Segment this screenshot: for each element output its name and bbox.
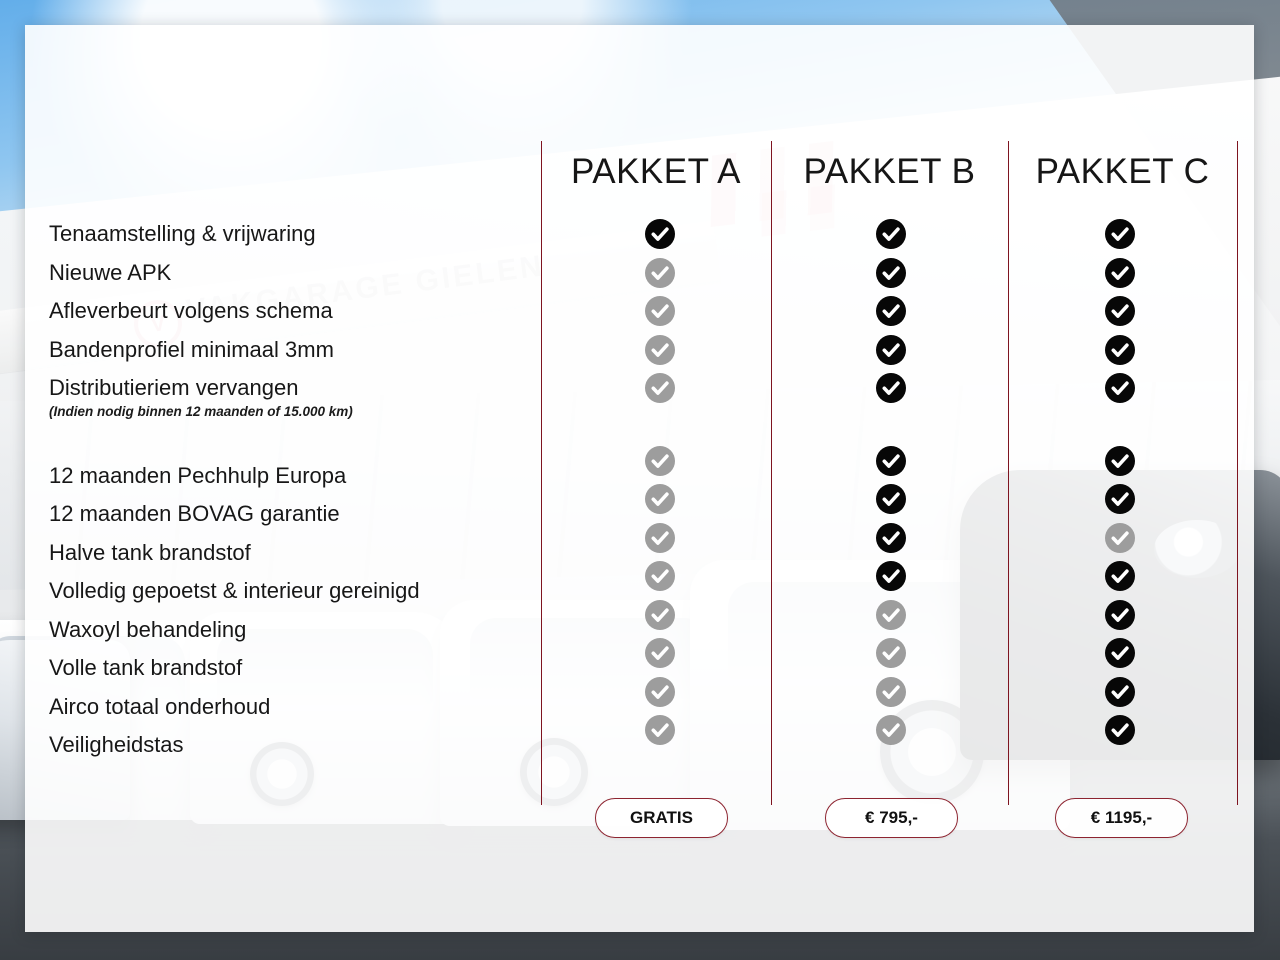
feature-row: 12 maanden Pechhulp Europa xyxy=(49,457,549,496)
check-cell xyxy=(861,711,921,750)
check-column-b xyxy=(861,215,921,750)
check-cell xyxy=(630,673,690,712)
check-icon-excluded xyxy=(1105,523,1135,553)
feature-label: Waxoyl behandeling xyxy=(49,617,246,643)
check-icon-excluded xyxy=(645,484,675,514)
check-cell xyxy=(861,557,921,596)
check-icon-included xyxy=(1105,677,1135,707)
check-icon-excluded xyxy=(645,561,675,591)
feature-row: Veiligheidstas xyxy=(49,726,549,765)
price-pill-a[interactable]: GRATIS xyxy=(595,798,728,838)
check-cell xyxy=(1090,519,1150,558)
check-icon-included xyxy=(876,219,906,249)
feature-row: Distributieriem vervangen xyxy=(49,369,549,408)
feature-note: (Indien nodig binnen 12 maanden of 15.00… xyxy=(49,404,549,419)
price-label: GRATIS xyxy=(630,808,693,828)
check-icon-excluded xyxy=(645,446,675,476)
price-pill-c[interactable]: € 1195,- xyxy=(1055,798,1188,838)
check-group-gap xyxy=(861,408,921,442)
column-divider-3 xyxy=(1008,141,1009,805)
check-icon-included xyxy=(876,561,906,591)
check-icon-excluded xyxy=(876,600,906,630)
check-icon-included xyxy=(1105,484,1135,514)
package-header-c: PAKKET C xyxy=(1008,143,1237,201)
package-title: PAKKET B xyxy=(804,152,976,192)
check-icon-included xyxy=(1105,258,1135,288)
feature-row: Waxoyl behandeling xyxy=(49,611,549,650)
feature-row: 12 maanden BOVAG garantie xyxy=(49,495,549,534)
feature-label: Nieuwe APK xyxy=(49,260,171,286)
check-column-c xyxy=(1090,215,1150,750)
package-header-a: PAKKET A xyxy=(541,143,771,201)
feature-label: Airco totaal onderhoud xyxy=(49,694,270,720)
check-icon-excluded xyxy=(645,600,675,630)
feature-row: Airco totaal onderhoud xyxy=(49,688,549,727)
check-cell xyxy=(861,519,921,558)
feature-row: Nieuwe APK xyxy=(49,254,549,293)
check-icon-excluded xyxy=(645,335,675,365)
check-cell xyxy=(630,442,690,481)
feature-label: Veiligheidstas xyxy=(49,732,184,758)
screenshot-stage: VAKGARAGE GIELEN PAKKET A PAKKET B PAKKE… xyxy=(0,0,1280,960)
feature-label: Afleverbeurt volgens schema xyxy=(49,298,333,324)
check-icon-included xyxy=(1105,335,1135,365)
check-icon-included xyxy=(876,446,906,476)
check-icon-excluded xyxy=(645,638,675,668)
check-cell xyxy=(861,442,921,481)
check-icon-included xyxy=(1105,219,1135,249)
check-icon-excluded xyxy=(645,373,675,403)
feature-label: 12 maanden BOVAG garantie xyxy=(49,501,340,527)
check-cell xyxy=(1090,215,1150,254)
check-cell xyxy=(1090,557,1150,596)
check-cell xyxy=(630,480,690,519)
check-cell xyxy=(861,331,921,370)
check-icon-excluded xyxy=(876,638,906,668)
check-group-gap xyxy=(630,408,690,442)
check-icon-included xyxy=(876,258,906,288)
column-divider-4 xyxy=(1237,141,1238,805)
feature-row: Bandenprofiel minimaal 3mm xyxy=(49,331,549,370)
check-icon-excluded xyxy=(645,258,675,288)
feature-label-list: Tenaamstelling & vrijwaringNieuwe APKAfl… xyxy=(49,215,549,765)
check-icon-included xyxy=(1105,561,1135,591)
check-cell xyxy=(861,254,921,293)
package-header-b: PAKKET B xyxy=(771,143,1008,201)
check-icon-included xyxy=(876,523,906,553)
check-cell xyxy=(861,292,921,331)
feature-label: Distributieriem vervangen xyxy=(49,375,298,401)
feature-row: Volle tank brandstof xyxy=(49,649,549,688)
check-icon-excluded xyxy=(645,523,675,553)
check-icon-included xyxy=(1105,446,1135,476)
check-icon-included xyxy=(1105,715,1135,745)
package-title: PAKKET C xyxy=(1036,152,1210,192)
price-label: € 795,- xyxy=(865,808,918,828)
check-cell xyxy=(861,673,921,712)
feature-row: Tenaamstelling & vrijwaring xyxy=(49,215,549,254)
check-cell xyxy=(630,557,690,596)
feature-label: Volle tank brandstof xyxy=(49,655,242,681)
check-icon-excluded xyxy=(876,677,906,707)
check-icon-excluded xyxy=(645,677,675,707)
feature-label: Tenaamstelling & vrijwaring xyxy=(49,221,316,247)
check-cell xyxy=(630,596,690,635)
check-icon-included xyxy=(876,296,906,326)
check-cell xyxy=(630,331,690,370)
check-icon-excluded xyxy=(645,296,675,326)
check-cell xyxy=(861,480,921,519)
check-icon-included xyxy=(1105,373,1135,403)
check-group-gap xyxy=(1090,408,1150,442)
check-icon-included xyxy=(645,219,675,249)
check-cell xyxy=(630,519,690,558)
check-cell xyxy=(1090,711,1150,750)
check-cell xyxy=(861,634,921,673)
check-icon-excluded xyxy=(876,715,906,745)
price-label: € 1195,- xyxy=(1091,808,1152,828)
check-cell xyxy=(1090,596,1150,635)
check-cell xyxy=(861,596,921,635)
check-cell xyxy=(1090,254,1150,293)
feature-group-gap xyxy=(49,423,549,457)
feature-row: Volledig gepoetst & interieur gereinigd xyxy=(49,572,549,611)
check-cell xyxy=(1090,369,1150,408)
check-icon-excluded xyxy=(645,715,675,745)
check-cell xyxy=(1090,292,1150,331)
pricing-card: PAKKET A PAKKET B PAKKET C Tenaamstellin… xyxy=(25,25,1254,932)
check-cell xyxy=(1090,634,1150,673)
feature-label: Volledig gepoetst & interieur gereinigd xyxy=(49,578,420,604)
check-cell xyxy=(630,292,690,331)
check-icon-included xyxy=(1105,638,1135,668)
feature-label: Bandenprofiel minimaal 3mm xyxy=(49,337,334,363)
price-pill-b[interactable]: € 795,- xyxy=(825,798,958,838)
check-cell xyxy=(630,634,690,673)
feature-row: Afleverbeurt volgens schema xyxy=(49,292,549,331)
feature-label: 12 maanden Pechhulp Europa xyxy=(49,463,346,489)
check-cell xyxy=(630,254,690,293)
check-cell xyxy=(630,711,690,750)
column-divider-2 xyxy=(771,141,772,805)
check-cell xyxy=(630,215,690,254)
check-icon-included xyxy=(876,373,906,403)
check-icon-included xyxy=(876,484,906,514)
check-column-a xyxy=(630,215,690,750)
check-icon-included xyxy=(1105,296,1135,326)
check-cell xyxy=(1090,673,1150,712)
check-icon-included xyxy=(876,335,906,365)
feature-label: Halve tank brandstof xyxy=(49,540,251,566)
check-cell xyxy=(1090,331,1150,370)
check-cell xyxy=(630,369,690,408)
check-cell xyxy=(861,215,921,254)
check-cell xyxy=(861,369,921,408)
feature-row: Halve tank brandstof xyxy=(49,534,549,573)
check-cell xyxy=(1090,442,1150,481)
check-cell xyxy=(1090,480,1150,519)
package-title: PAKKET A xyxy=(571,152,741,192)
check-icon-included xyxy=(1105,600,1135,630)
